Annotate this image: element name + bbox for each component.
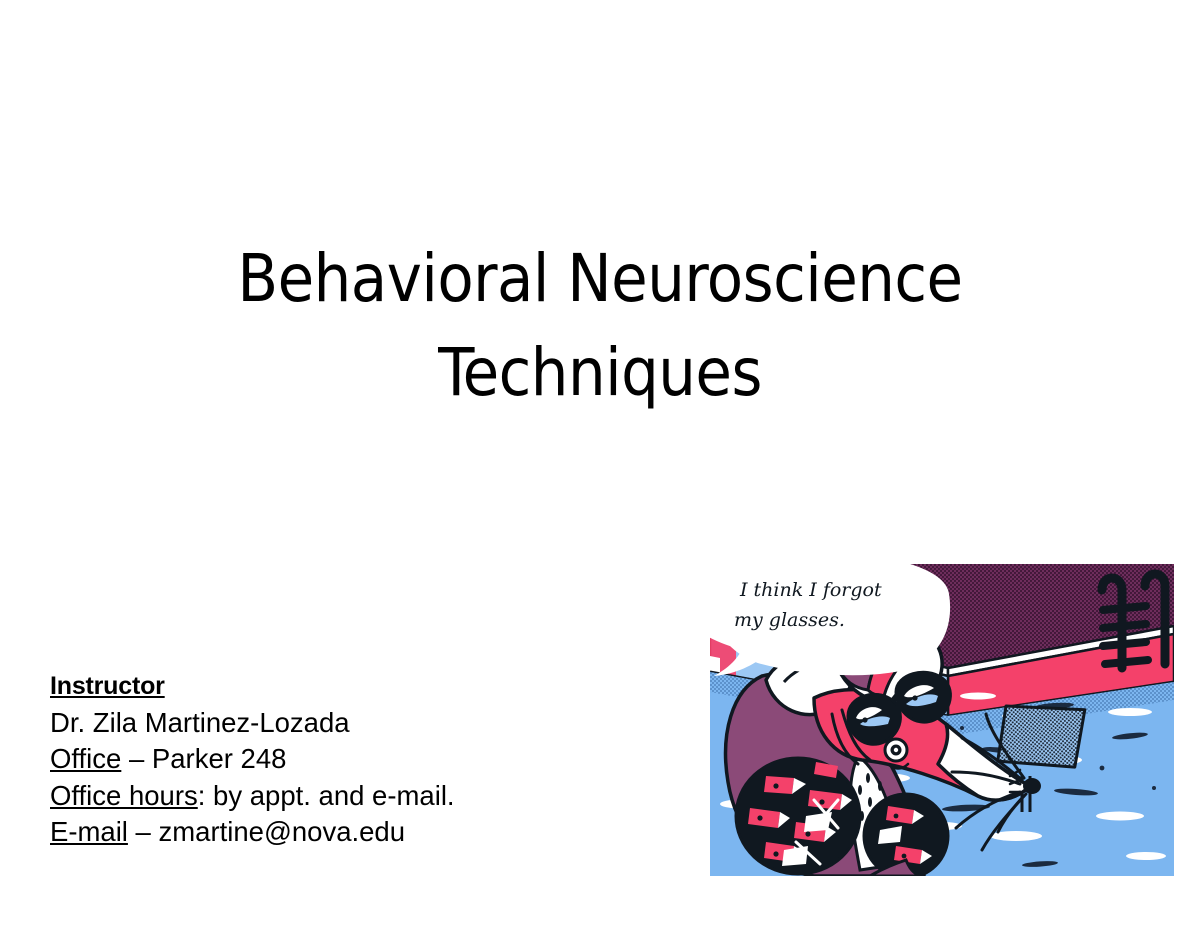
office-hours-value: : by appt. and e-mail. xyxy=(198,780,455,811)
page-title: Behavioral Neuroscience Techniques xyxy=(100,232,1100,419)
instructor-heading-label: Instructor xyxy=(50,672,165,700)
instructor-heading: Instructor xyxy=(50,668,670,705)
presentation-slide: Behavioral Neuroscience Techniques Instr… xyxy=(0,0,1200,927)
instructor-email-line: E-mail – zmartine@nova.edu xyxy=(50,814,670,851)
title-line-1: Behavioral Neuroscience xyxy=(100,232,1100,326)
cartoon-mouse-at-pool-image: I think I forgot my glasses. xyxy=(710,564,1174,876)
office-label: Office xyxy=(50,743,121,774)
email-label: E-mail xyxy=(50,816,128,847)
instructor-office-hours-line: Office hours: by appt. and e-mail. xyxy=(50,778,670,815)
office-hours-label: Office hours xyxy=(50,780,198,811)
speech-bubble-line-2: my glasses. xyxy=(734,609,845,631)
email-value: – zmartine@nova.edu xyxy=(128,816,405,847)
instructor-name: Dr. Zila Martinez-Lozada xyxy=(50,707,350,738)
speech-bubble-line-1: I think I forgot xyxy=(739,579,882,601)
instructor-office-line: Office – Parker 248 xyxy=(50,741,670,778)
title-line-2: Techniques xyxy=(100,326,1100,420)
instructor-info-block: Instructor Dr. Zila Martinez-Lozada Offi… xyxy=(50,668,670,851)
instructor-name-line: Dr. Zila Martinez-Lozada xyxy=(50,705,670,742)
office-value: – Parker 248 xyxy=(121,743,286,774)
